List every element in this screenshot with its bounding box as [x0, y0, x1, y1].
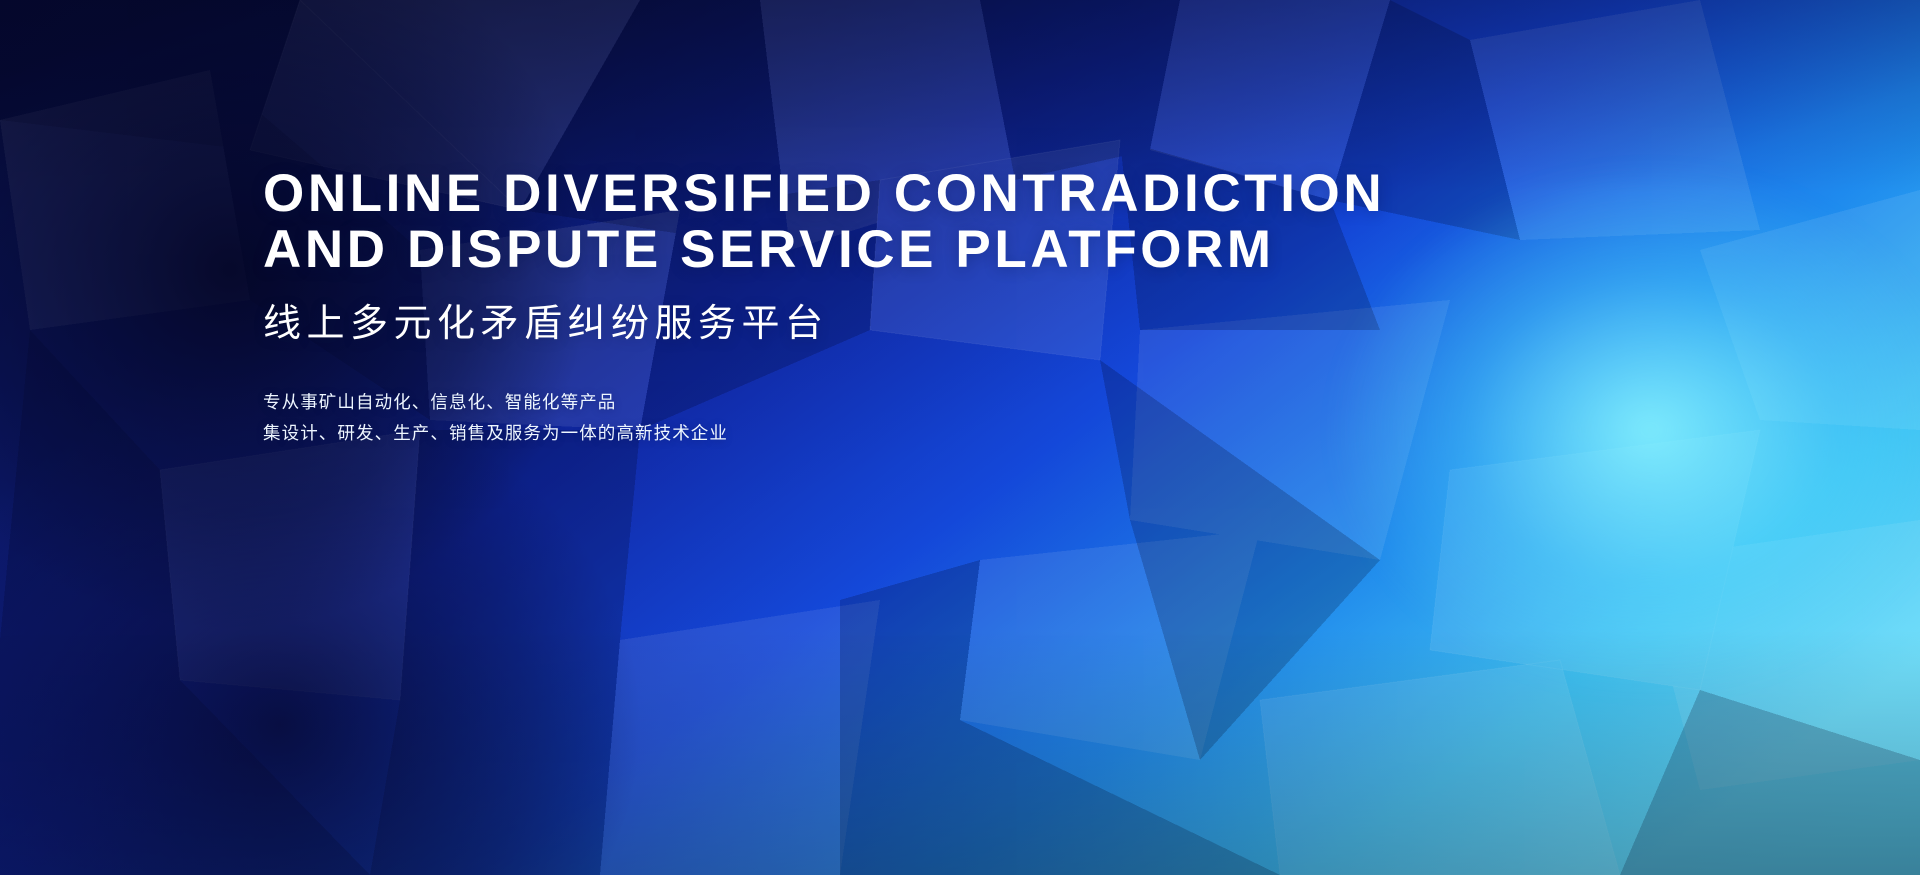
hero-headline-chinese: 线上多元化矛盾纠纷服务平台 [263, 302, 1663, 346]
hero-banner: ONLINE DIVERSIFIED CONTRADICTION AND DIS… [0, 0, 1920, 875]
hero-description: 专从事矿山自动化、信息化、智能化等产品 集设计、研发、生产、销售及服务为一体的高… [263, 387, 1663, 449]
description-line-1: 专从事矿山自动化、信息化、智能化等产品 [263, 387, 1663, 418]
hero-text-block: ONLINE DIVERSIFIED CONTRADICTION AND DIS… [263, 166, 1663, 449]
description-line-2: 集设计、研发、生产、销售及服务为一体的高新技术企业 [263, 418, 1663, 449]
hero-headline-english: ONLINE DIVERSIFIED CONTRADICTION AND DIS… [263, 166, 1663, 278]
